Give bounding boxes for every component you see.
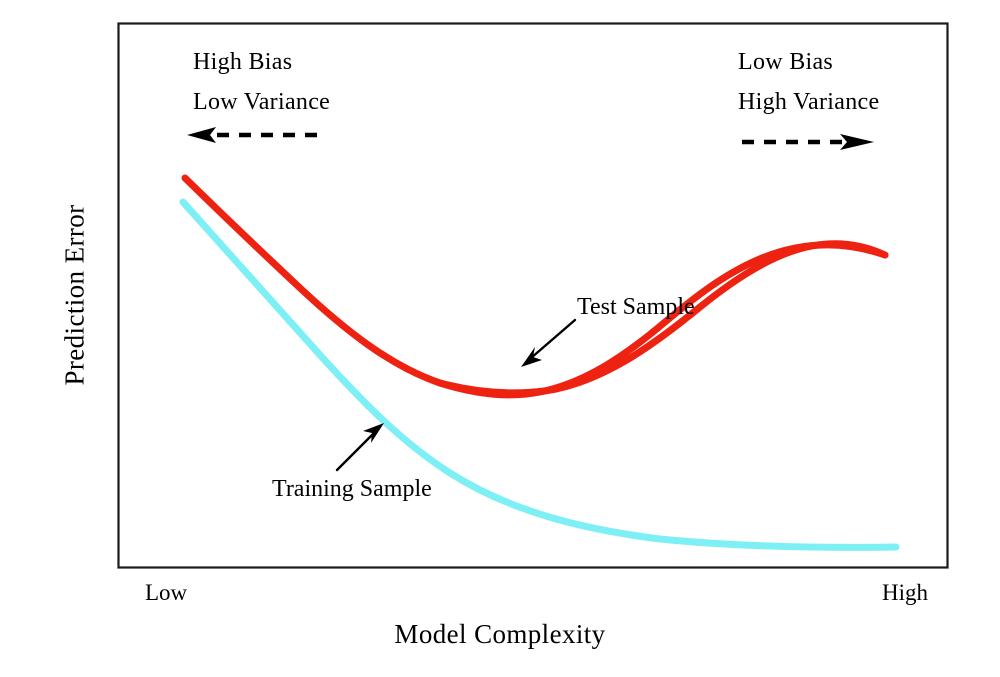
x-tick-label-low: Low [145,581,187,604]
low-variance-label: Low Variance [193,90,330,114]
high-bias-label: High Bias [193,50,292,74]
x-axis-label: Model Complexity [394,621,605,648]
training-sample-label: Training Sample [272,477,432,501]
low-bias-label: Low Bias [738,50,833,74]
bias-variance-figure: Prediction Error Model Complexity Low Hi… [0,0,1000,677]
test-sample-label: Test Sample [577,295,695,319]
high-variance-label: High Variance [738,90,879,114]
x-tick-label-high: High [882,581,928,604]
